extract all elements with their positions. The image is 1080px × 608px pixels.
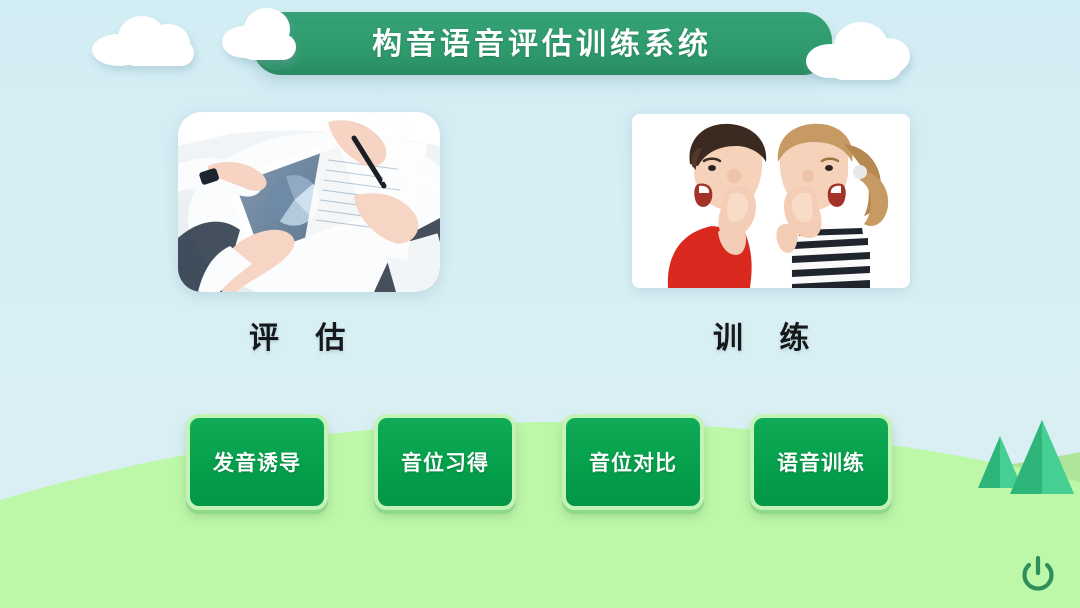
menu-button-label: 发音诱导 bbox=[213, 447, 301, 477]
menu-button-label: 语音训练 bbox=[777, 447, 865, 477]
section-label-training: 训 练 bbox=[713, 313, 823, 357]
menu-button-speech-training[interactable]: 语音训练 bbox=[750, 414, 892, 510]
app-root: 构音语音评估训练系统 bbox=[0, 0, 1080, 608]
training-image[interactable] bbox=[632, 114, 910, 288]
menu-button-phoneme-contrast[interactable]: 音位对比 bbox=[562, 414, 704, 510]
page-title: 构音语音评估训练系统 bbox=[372, 19, 712, 63]
assessment-image[interactable] bbox=[178, 112, 440, 292]
menu-button-label: 音位习得 bbox=[401, 447, 489, 477]
cloud-icon-banner-left bbox=[222, 8, 314, 62]
cloud-icon-left bbox=[92, 14, 208, 66]
menu-button-label: 音位对比 bbox=[589, 447, 677, 477]
section-label-assessment: 评 估 bbox=[249, 313, 359, 357]
menu-button-row: 发音诱导 音位习得 音位对比 语音训练 bbox=[186, 414, 894, 514]
power-icon[interactable] bbox=[1016, 552, 1060, 596]
menu-button-phoneme-acquisition[interactable]: 音位习得 bbox=[374, 414, 516, 510]
cloud-icon-banner-right bbox=[806, 22, 914, 82]
menu-button-pronunciation-induction[interactable]: 发音诱导 bbox=[186, 414, 328, 510]
mountain-decoration bbox=[970, 402, 1080, 512]
title-banner: 构音语音评估训练系统 bbox=[252, 12, 832, 70]
